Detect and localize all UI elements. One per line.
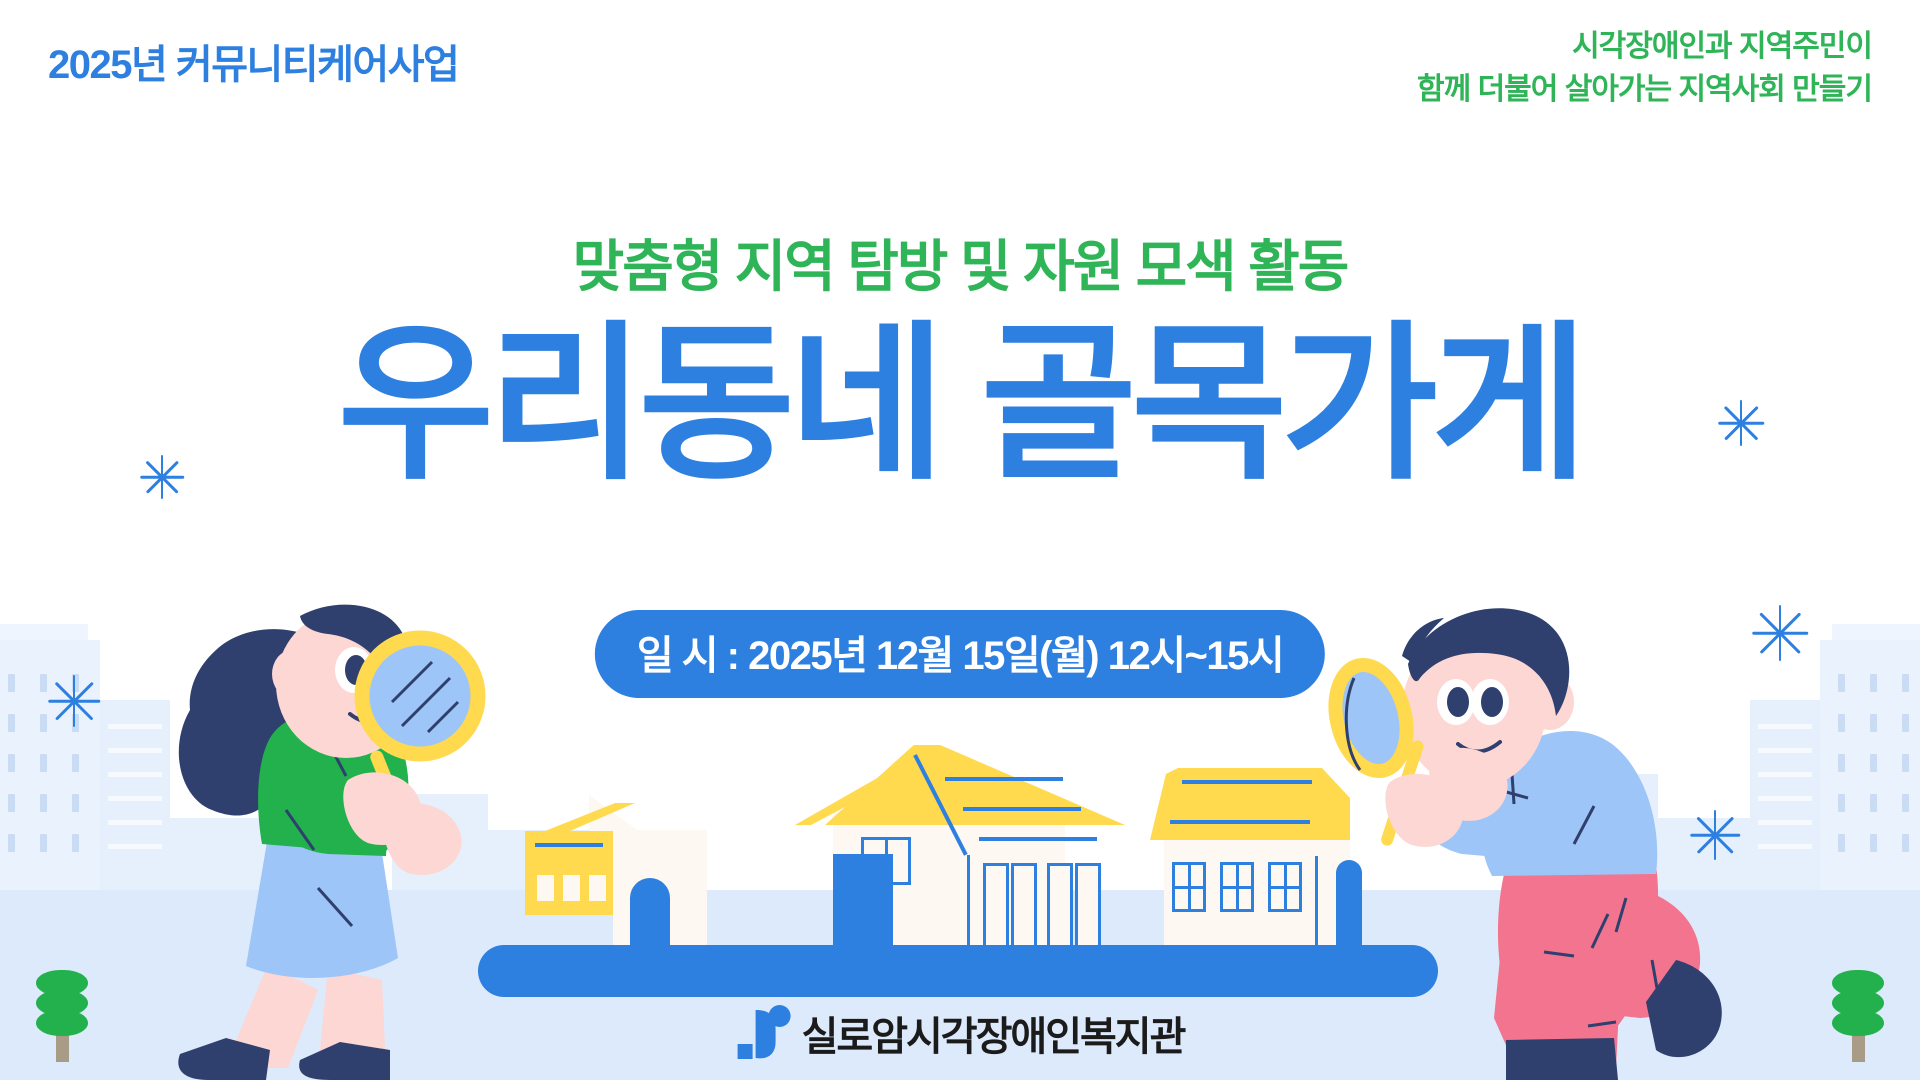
road-bar: [478, 945, 1438, 997]
organization-name: 실로암시각장애인복지관: [802, 1004, 1185, 1062]
slogan: 시각장애인과 지역주민이 함께 더불어 살아가는 지역사회 만들기: [1417, 26, 1872, 111]
sparkle-icon-right-mid: [1752, 605, 1808, 661]
left-character-woman-with-magnifier: [150, 598, 570, 1080]
building-right-cap: [1832, 624, 1920, 640]
page-title: 우리동네 골목가게: [0, 320, 1920, 490]
program-label: 2025년 커뮤니티케어사업: [48, 32, 458, 90]
sparkle-icon-left-lower: [48, 675, 100, 727]
silloam-j-mark-icon: [736, 1004, 794, 1062]
subheadline: 맞춤형 지역 탐방 및 자원 모색 활동: [0, 222, 1920, 303]
house-door-center: [833, 854, 893, 950]
slogan-line-2: 함께 더불어 살아가는 지역사회 만들기: [1417, 69, 1872, 112]
date-badge: 일 시 : 2025년 12월 15일(월) 12시~15시: [595, 610, 1325, 698]
building-right-2: [1750, 700, 1820, 890]
right-character-man-with-magnifier: [1316, 598, 1736, 1080]
slogan-line-1: 시각장애인과 지역주민이: [1417, 26, 1872, 69]
building-right-1: [1820, 640, 1920, 890]
tree-right: [1830, 958, 1886, 1062]
tree-left: [34, 958, 90, 1062]
poster-canvas: 2025년 커뮤니티케어사업 시각장애인과 지역주민이 함께 더불어 살아가는 …: [0, 0, 1920, 1080]
building-left-cap: [0, 624, 88, 640]
footer-logo: 실로암시각장애인복지관: [736, 1004, 1185, 1062]
house-large-center: [795, 745, 1125, 950]
